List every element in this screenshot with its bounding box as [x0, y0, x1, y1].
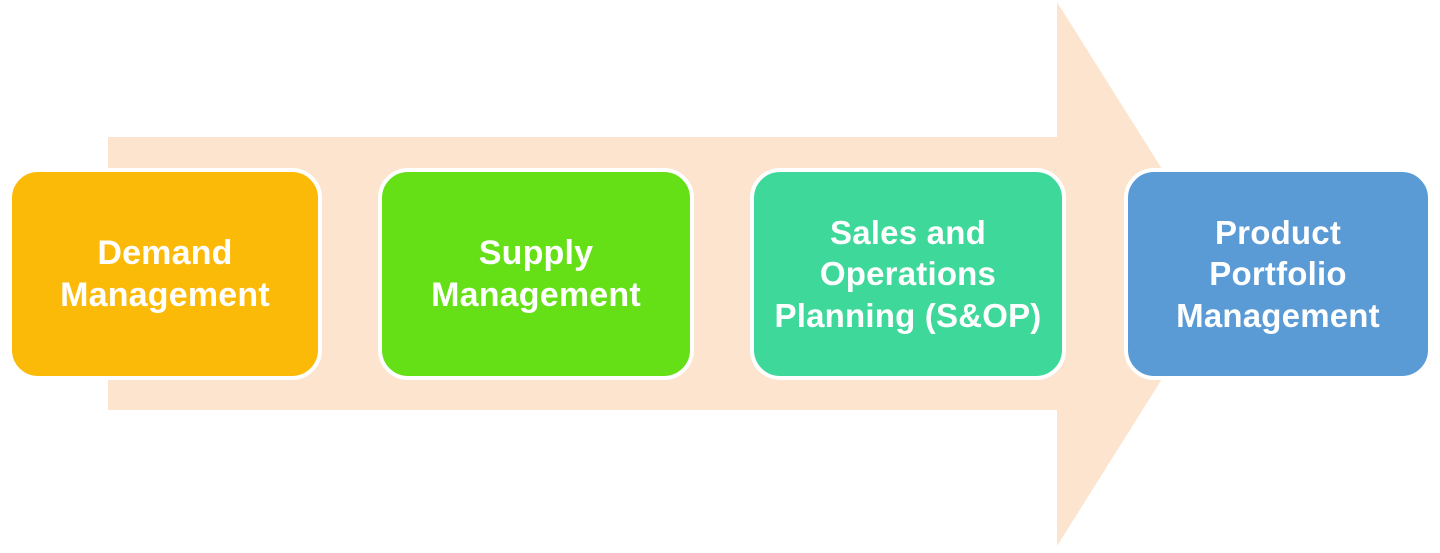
stage-box-supply-management[interactable]: Supply Management	[378, 168, 694, 380]
stage-label-sales-and-operations-planning: Sales and Operations Planning (S&OP)	[765, 212, 1052, 336]
stage-box-demand-management[interactable]: Demand Management	[8, 168, 322, 380]
stage-box-product-portfolio-management[interactable]: Product Portfolio Management	[1124, 168, 1432, 380]
stage-box-sales-and-operations-planning[interactable]: Sales and Operations Planning (S&OP)	[750, 168, 1066, 380]
stage-boxes-layer: Demand Management Supply Management Sale…	[0, 0, 1440, 548]
stage-label-demand-management: Demand Management	[50, 232, 280, 317]
process-arrow-diagram: Demand Management Supply Management Sale…	[0, 0, 1440, 548]
stage-label-product-portfolio-management: Product Portfolio Management	[1166, 212, 1390, 336]
stage-label-supply-management: Supply Management	[421, 232, 651, 317]
